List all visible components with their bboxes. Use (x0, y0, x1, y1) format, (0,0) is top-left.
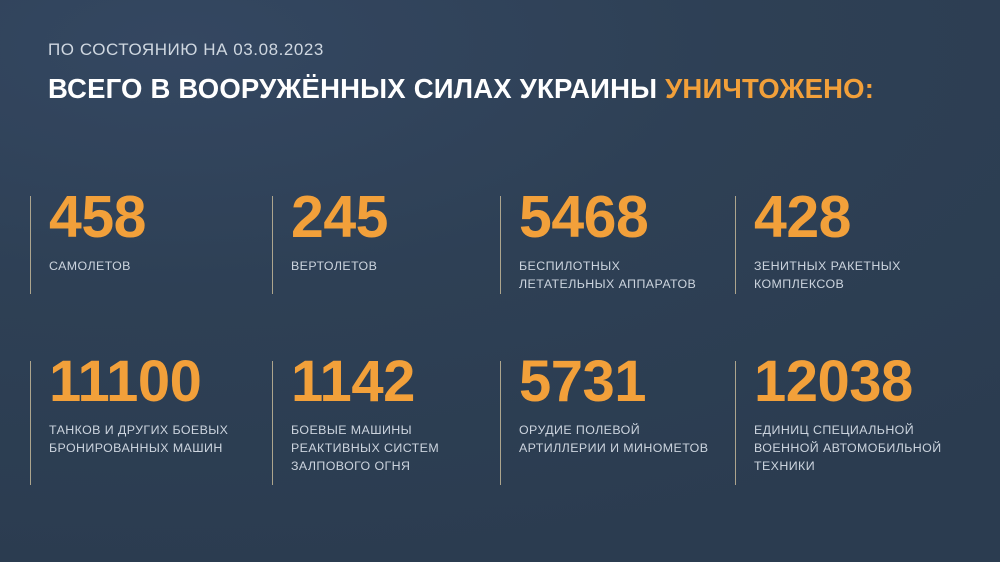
stat-label-line: ВОЕННОЙ АВТОМОБИЛЬНОЙ (754, 440, 982, 458)
stat-item: 1142БОЕВЫЕ МАШИНЫРЕАКТИВНЫХ СИСТЕМЗАЛПОВ… (272, 355, 500, 475)
stats-grid: 458САМОЛЕТОВ245ВЕРТОЛЕТОВ5468БЕСПИЛОТНЫХ… (30, 190, 982, 475)
stat-divider-line (500, 196, 501, 294)
stat-label: ВЕРТОЛЕТОВ (291, 258, 500, 276)
stat-label-line: ЛЕТАТЕЛЬНЫХ АППАРАТОВ (519, 276, 735, 294)
stat-label-line: БОЕВЫЕ МАШИНЫ (291, 422, 500, 440)
stat-label-line: ЕДИНИЦ СПЕЦИАЛЬНОЙ (754, 422, 982, 440)
stat-label-line: САМОЛЕТОВ (49, 258, 272, 276)
headline-main-text: ВСЕГО В ВООРУЖЁННЫХ СИЛАХ УКРАИНЫ (48, 73, 657, 104)
stat-item: 12038ЕДИНИЦ СПЕЦИАЛЬНОЙВОЕННОЙ АВТОМОБИЛ… (735, 355, 982, 475)
stat-value: 12038 (754, 355, 982, 408)
stat-label-line: АРТИЛЛЕРИИ И МИНОМЕТОВ (519, 440, 735, 458)
stat-label-line: БРОНИРОВАННЫХ МАШИН (49, 440, 272, 458)
stat-divider-line (500, 361, 501, 485)
stat-label: БОЕВЫЕ МАШИНЫРЕАКТИВНЫХ СИСТЕМЗАЛПОВОГО … (291, 422, 500, 475)
stat-label: ЗЕНИТНЫХ РАКЕТНЫХКОМПЛЕКСОВ (754, 258, 982, 293)
stat-label: ОРУДИЕ ПОЛЕВОЙАРТИЛЛЕРИИ И МИНОМЕТОВ (519, 422, 735, 457)
stat-divider-line (735, 196, 736, 294)
stat-value: 1142 (291, 355, 500, 408)
page-title: ВСЕГО В ВООРУЖЁННЫХ СИЛАХ УКРАИНЫ УНИЧТО… (48, 73, 970, 105)
headline-accent-text: УНИЧТОЖЕНО: (665, 73, 874, 104)
stat-label-line: ТАНКОВ И ДРУГИХ БОЕВЫХ (49, 422, 272, 440)
stat-value: 11100 (49, 355, 272, 408)
stat-item: 458САМОЛЕТОВ (30, 190, 272, 355)
stat-value: 5731 (519, 355, 735, 408)
stat-value: 245 (291, 190, 500, 244)
stat-label-line: РЕАКТИВНЫХ СИСТЕМ (291, 440, 500, 458)
infographic-poster: ПО СОСТОЯНИЮ НА 03.08.2023 ВСЕГО В ВООРУ… (0, 0, 1000, 562)
stat-label-line: КОМПЛЕКСОВ (754, 276, 982, 294)
poster-header: ПО СОСТОЯНИЮ НА 03.08.2023 ВСЕГО В ВООРУ… (48, 40, 970, 106)
stat-item: 11100ТАНКОВ И ДРУГИХ БОЕВЫХБРОНИРОВАННЫХ… (30, 355, 272, 475)
stat-label-line: ВЕРТОЛЕТОВ (291, 258, 500, 276)
stat-label-line: БЕСПИЛОТНЫХ (519, 258, 735, 276)
stat-label-line: ЗЕНИТНЫХ РАКЕТНЫХ (754, 258, 982, 276)
stat-item: 428ЗЕНИТНЫХ РАКЕТНЫХКОМПЛЕКСОВ (735, 190, 982, 355)
report-date-line: ПО СОСТОЯНИЮ НА 03.08.2023 (48, 40, 970, 60)
stat-divider-line (272, 361, 273, 485)
stat-item: 5731ОРУДИЕ ПОЛЕВОЙАРТИЛЛЕРИИ И МИНОМЕТОВ (500, 355, 735, 475)
stat-label: ЕДИНИЦ СПЕЦИАЛЬНОЙВОЕННОЙ АВТОМОБИЛЬНОЙТ… (754, 422, 982, 475)
stat-label: САМОЛЕТОВ (49, 258, 272, 276)
stat-divider-line (30, 361, 31, 485)
stat-value: 428 (754, 190, 982, 244)
stat-value: 5468 (519, 190, 735, 244)
stat-divider-line (30, 196, 31, 294)
stat-label: БЕСПИЛОТНЫХЛЕТАТЕЛЬНЫХ АППАРАТОВ (519, 258, 735, 293)
stat-label: ТАНКОВ И ДРУГИХ БОЕВЫХБРОНИРОВАННЫХ МАШИ… (49, 422, 272, 457)
stat-divider-line (735, 361, 736, 485)
stat-label-line: ТЕХНИКИ (754, 458, 982, 476)
stat-item: 5468БЕСПИЛОТНЫХЛЕТАТЕЛЬНЫХ АППАРАТОВ (500, 190, 735, 355)
stat-divider-line (272, 196, 273, 294)
stat-label-line: ЗАЛПОВОГО ОГНЯ (291, 458, 500, 476)
stat-value: 458 (49, 190, 272, 244)
stat-label-line: ОРУДИЕ ПОЛЕВОЙ (519, 422, 735, 440)
stat-item: 245ВЕРТОЛЕТОВ (272, 190, 500, 355)
